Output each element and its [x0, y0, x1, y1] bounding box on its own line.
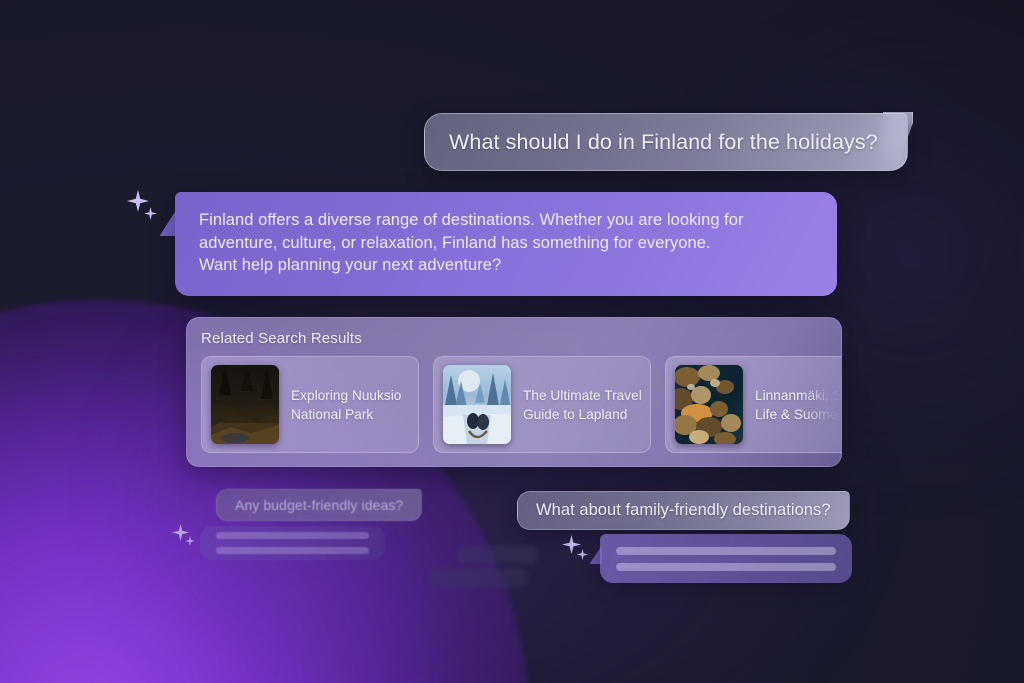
- result-card[interactable]: Linnanmäki, S Life & Suome: [665, 356, 842, 453]
- assistant-message-line: adventure, culture, or relaxation, Finla…: [199, 232, 811, 255]
- skeleton-line: [216, 547, 369, 554]
- assistant-message-line: Finland offers a diverse range of destin…: [199, 209, 811, 232]
- faded-message-shape: [457, 546, 539, 564]
- result-card-title-line: Life & Suome: [755, 405, 842, 424]
- result-card-title-line: Linnanmäki, S: [755, 386, 842, 405]
- sparkle-icon-small: [185, 536, 195, 546]
- faded-message-shape: [428, 568, 528, 588]
- result-card-title-line: Exploring Nuuksio: [291, 386, 401, 405]
- assistant-message-bubble[interactable]: Finland offers a diverse range of destin…: [175, 192, 837, 296]
- result-card-title-line: Guide to Lapland: [523, 405, 642, 424]
- user-message-bubble[interactable]: What should I do in Finland for the holi…: [424, 113, 908, 171]
- result-card[interactable]: The Ultimate Travel Guide to Lapland: [433, 356, 651, 453]
- sparkle-icon-small: [144, 207, 157, 220]
- skeleton-line: [616, 563, 836, 571]
- skeleton-line: [216, 532, 369, 539]
- suggestion-chip-family-label: What about family-friendly destinations?: [536, 501, 831, 520]
- result-thumbnail-forest-trail: [211, 365, 279, 444]
- loading-skeleton-bubble: [600, 534, 852, 583]
- result-card-title-line: National Park: [291, 405, 401, 424]
- sparkle-icon-large: [172, 524, 189, 541]
- assistant-message-line: Want help planning your next adventure?: [199, 254, 811, 277]
- related-search-results-panel: Related Search Results: [186, 317, 842, 467]
- suggestion-chip-budget[interactable]: Any budget-friendly ideas?: [216, 489, 422, 521]
- suggestion-chip-budget-label: Any budget-friendly ideas?: [235, 497, 403, 513]
- result-card[interactable]: Exploring Nuuksio National Park: [201, 356, 419, 453]
- result-card-title: The Ultimate Travel Guide to Lapland: [523, 386, 642, 424]
- result-card-title-line: The Ultimate Travel: [523, 386, 642, 405]
- sparkle-icon-large: [127, 190, 149, 212]
- result-thumbnail-snow-dogsled: [443, 365, 511, 444]
- result-cards-row: Exploring Nuuksio National Park: [201, 356, 841, 453]
- skeleton-line: [616, 547, 836, 555]
- loading-skeleton-bubble: [200, 526, 385, 560]
- result-card-title: Exploring Nuuksio National Park: [291, 386, 401, 424]
- user-message-text: What should I do in Finland for the holi…: [449, 130, 878, 155]
- suggestion-chip-family[interactable]: What about family-friendly destinations?: [517, 491, 850, 530]
- result-thumbnail-coral-reef: [675, 365, 743, 444]
- sparkle-icon-small: [577, 549, 588, 560]
- related-search-results-title: Related Search Results: [201, 330, 841, 347]
- chat-stage: What should I do in Finland for the holi…: [0, 0, 1024, 683]
- sparkle-icon-large: [562, 535, 581, 554]
- result-card-title: Linnanmäki, S Life & Suome: [755, 386, 842, 424]
